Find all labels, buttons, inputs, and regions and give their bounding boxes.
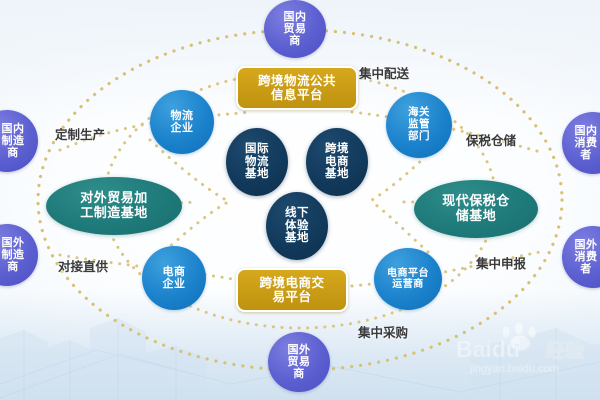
node-label: 国外 消费 者 — [575, 239, 600, 276]
node-label: 国际 物流 基地 — [245, 143, 269, 182]
node-label: 电商 企业 — [163, 266, 186, 291]
flow-label-custom-production: 定制生产 — [55, 124, 105, 143]
node-offline-experience-base[interactable]: 线下 体验 基地 — [266, 192, 328, 260]
node-label: 线下 体验 基地 — [285, 207, 309, 246]
baidu-watermark-logo: Baidu 经验 jingyan.baidu.com — [454, 323, 594, 379]
node-domestic-trader[interactable]: 国内 贸易 商 — [264, 0, 326, 58]
watermark: Baidu 经验 jingyan.baidu.com — [454, 323, 594, 384]
node-customs-authority[interactable]: 海关 监管 部门 — [386, 92, 452, 158]
node-label: 跨境物流公共 信息平台 — [258, 74, 336, 102]
node-label: 国内 贸易 商 — [284, 11, 307, 48]
node-label: 海关 监管 部门 — [408, 107, 430, 142]
flow-label-bonded-warehousing: 保税仓储 — [466, 130, 516, 149]
node-modern-bonded-warehouse-base[interactable]: 现代保税仓 储基地 — [414, 180, 538, 238]
flow-label-centralized-procurement: 集中采购 — [358, 322, 408, 341]
node-cross-border-ecommerce-base[interactable]: 跨境 电商 基地 — [306, 128, 368, 196]
node-logistics-enterprise[interactable]: 物流 企业 — [150, 90, 214, 154]
watermark-sub-text: 经验 — [546, 339, 585, 362]
node-label: 电商平台 运营商 — [387, 268, 429, 290]
flow-label-centralized-declaration: 集中申报 — [476, 253, 526, 272]
flow-label-direct-supply: 对接直供 — [58, 256, 108, 275]
node-label: 国外 贸易 商 — [288, 344, 311, 381]
node-label: 跨境 电商 基地 — [325, 143, 349, 182]
diagram-canvas: .dots{fill:none;stroke:#d9c173;stroke-wi… — [0, 0, 600, 400]
node-label: 国内 消费 者 — [575, 125, 600, 162]
node-intl-logistics-base[interactable]: 国际 物流 基地 — [226, 128, 288, 196]
node-label: 跨境电商交 易平台 — [259, 276, 324, 304]
node-logistics-info-platform[interactable]: 跨境物流公共 信息平台 — [236, 66, 358, 110]
node-label: 物流 企业 — [171, 110, 194, 135]
node-label: 国内 制造 商 — [0, 123, 25, 160]
watermark-brand-text: Baidu — [456, 336, 520, 362]
node-label: 现代保税仓 储基地 — [442, 194, 510, 223]
node-label: 国外 制造 商 — [0, 237, 25, 274]
node-label: 对外贸易加 工制造基地 — [80, 191, 148, 220]
node-foreign-trade-manufacturing-base[interactable]: 对外贸易加 工制造基地 — [46, 177, 182, 235]
watermark-url-text: jingyan.baidu.com — [469, 363, 559, 375]
node-platform-operator[interactable]: 电商平台 运营商 — [374, 248, 442, 310]
flow-label-centralized-delivery: 集中配送 — [359, 63, 409, 82]
node-ecommerce-enterprise[interactable]: 电商 企业 — [142, 246, 206, 310]
node-trade-platform[interactable]: 跨境电商交 易平台 — [236, 268, 348, 312]
node-foreign-trader[interactable]: 国外 贸易 商 — [268, 332, 330, 392]
